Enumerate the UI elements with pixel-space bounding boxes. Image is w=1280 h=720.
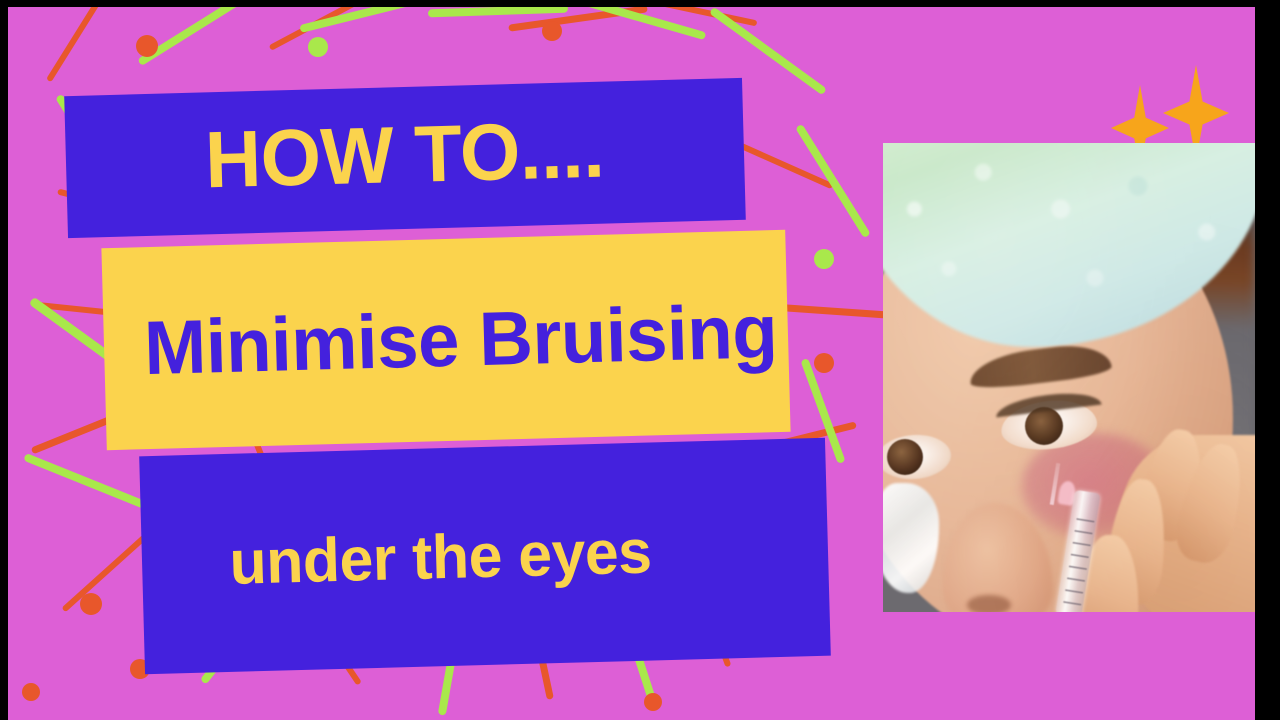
photo-grain-overlay — [883, 143, 1255, 612]
sparkle-group — [1097, 65, 1237, 155]
burst-dot — [644, 693, 662, 711]
burst-dot — [542, 21, 562, 41]
thumbnail-canvas: HOW TO.... Minimise Bruising under the e… — [8, 7, 1255, 720]
burst-ray — [269, 7, 378, 51]
title-banner-under-the-eyes: under the eyes — [139, 438, 831, 674]
burst-ray — [428, 7, 568, 17]
photo-inner — [883, 143, 1255, 612]
burst-ray — [570, 7, 707, 40]
burst-ray — [23, 453, 147, 509]
burst-ray — [508, 7, 648, 32]
burst-dot — [308, 37, 328, 57]
title-text-how-to: HOW TO.... — [204, 104, 605, 213]
burst-dot — [136, 35, 158, 57]
burst-dot — [80, 593, 102, 615]
burst-ray — [649, 7, 758, 26]
title-text-minimise-bruising: Minimise Bruising — [110, 288, 779, 393]
title-banner-how-to: HOW TO.... — [64, 78, 746, 238]
burst-ray — [46, 7, 102, 82]
burst-dot — [814, 353, 834, 373]
title-text-under-the-eyes: under the eyes — [146, 516, 652, 601]
burst-ray — [795, 124, 871, 238]
title-banner-minimise-bruising: Minimise Bruising — [101, 230, 790, 450]
burst-dot — [22, 683, 40, 701]
burst-dot — [814, 249, 834, 269]
burst-ray — [299, 7, 446, 33]
burst-ray — [137, 7, 268, 66]
under-eye-injection-photo — [883, 143, 1255, 612]
video-frame: HOW TO.... Minimise Bruising under the e… — [0, 0, 1280, 720]
